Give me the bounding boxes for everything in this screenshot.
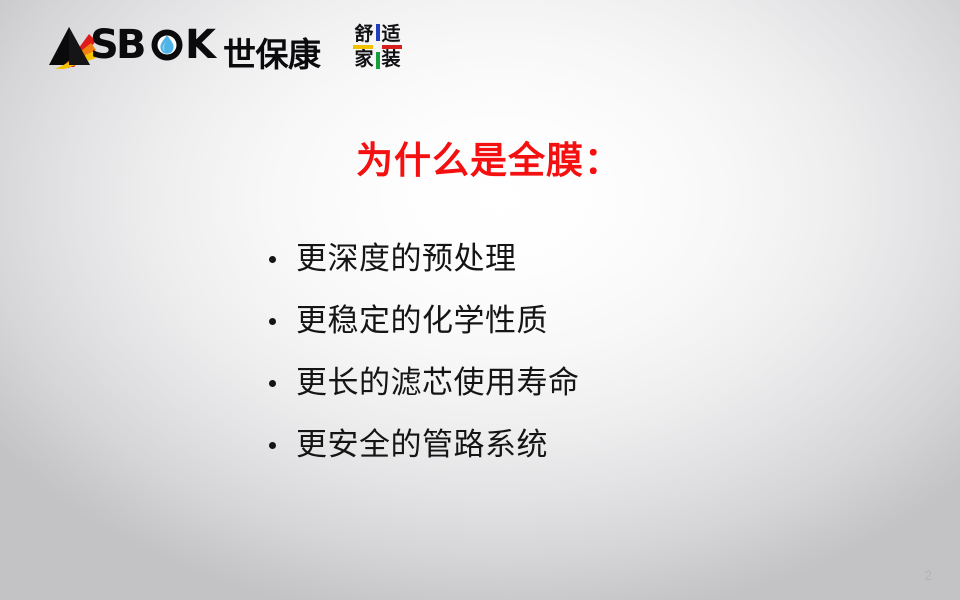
- list-item-label: 更长的滤芯使用寿命: [296, 364, 580, 403]
- sbok-cjk-name: 世保康: [223, 38, 321, 71]
- divider-red-icon: [382, 45, 402, 49]
- char-jia: 家: [351, 47, 378, 72]
- char-zhuang: 装: [378, 47, 405, 72]
- divider-green-icon: [376, 52, 380, 69]
- sbok-primary-logo: S B K 世保康: [44, 23, 321, 72]
- page-number: 2: [924, 568, 932, 582]
- bullet-dot-icon: [262, 380, 296, 387]
- svg-text:S: S: [90, 23, 118, 67]
- divider-blue-icon: [376, 24, 380, 41]
- list-item: 更长的滤芯使用寿命: [262, 352, 782, 414]
- bullet-dot-icon: [262, 318, 296, 325]
- list-item: 更稳定的化学性质: [262, 290, 782, 352]
- svg-text:B: B: [116, 23, 146, 67]
- slide-canvas: S B K 世保康 舒 适: [0, 0, 960, 600]
- char-shi: 适: [378, 22, 405, 47]
- bullet-dot-icon: [262, 442, 296, 449]
- list-item-label: 更深度的预处理: [296, 240, 517, 279]
- sbok-triangle-mark: [44, 25, 96, 69]
- list-item-label: 更安全的管路系统: [296, 426, 548, 465]
- divider-yellow-icon: [353, 45, 373, 49]
- sbok-latin-letters: S B K: [90, 23, 222, 67]
- slide-title: 为什么是全膜：: [0, 139, 960, 183]
- shushijiazhuang-logo: 舒 适 家 装: [351, 22, 405, 72]
- char-shu: 舒: [351, 22, 378, 47]
- logo-block: S B K 世保康 舒 适: [44, 22, 405, 72]
- list-item: 更安全的管路系统: [262, 414, 782, 476]
- list-item-label: 更稳定的化学性质: [296, 302, 548, 341]
- bullet-dot-icon: [262, 256, 296, 263]
- bullet-list: 更深度的预处理 更稳定的化学性质 更长的滤芯使用寿命 更安全的管路系统: [262, 228, 782, 476]
- svg-text:K: K: [185, 23, 218, 67]
- list-item: 更深度的预处理: [262, 228, 782, 290]
- sbok-wordmark: S B K 世保康: [90, 23, 321, 72]
